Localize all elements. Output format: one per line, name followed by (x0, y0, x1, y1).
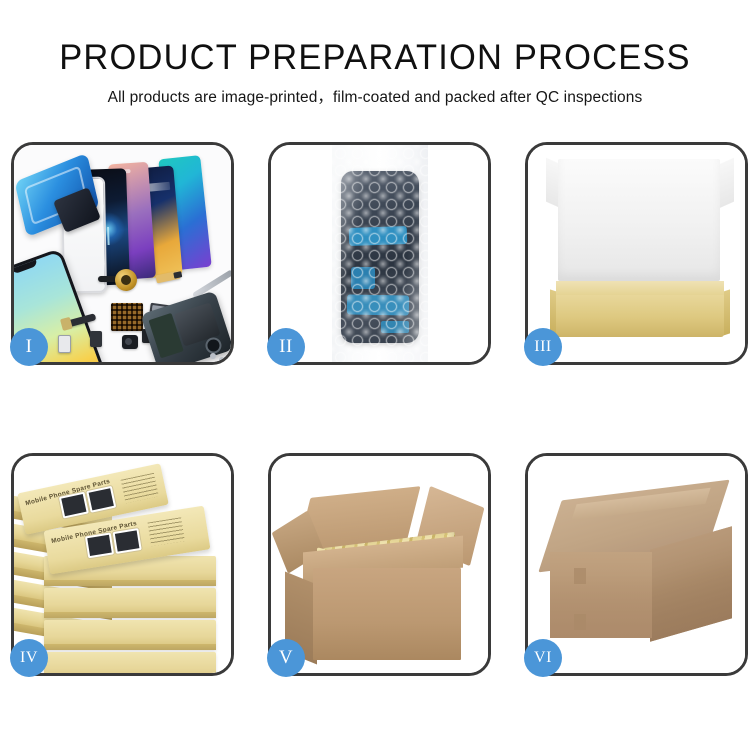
process-step-2[interactable]: II (268, 142, 491, 365)
process-step-1[interactable]: I (11, 142, 234, 365)
step-5-image (271, 456, 488, 673)
process-step-3[interactable]: III (525, 142, 748, 365)
scene-bubble-wrapped (271, 145, 488, 362)
step-numeral-badge-1: I (10, 328, 48, 366)
step-numeral-badge-4: IV (10, 639, 48, 677)
box-product-photo-1b (86, 486, 116, 513)
stacked-box-front-2 (44, 588, 216, 618)
scene-carton-sealed (528, 456, 745, 673)
box-lid-white (558, 159, 720, 281)
box-tray-kraft (556, 295, 724, 337)
carton-seam-mark-top (574, 568, 586, 584)
page-title: PRODUCT PREPARATION PROCESS (6, 40, 745, 75)
part-camera-module (122, 335, 138, 349)
sealed-carton-front (550, 552, 652, 638)
process-step-6[interactable]: VI (525, 453, 748, 676)
carton-front-face (313, 568, 461, 660)
carton-seam-mark-bottom (574, 614, 586, 630)
stacked-box-front-3 (44, 620, 216, 650)
step-numeral-badge-3: III (524, 328, 562, 366)
box-product-photo-1a (59, 492, 89, 519)
process-step-4[interactable]: Mobile Phone Spare Parts Mobile Phone Sp… (11, 453, 234, 676)
part-vibrator-coin (115, 269, 137, 291)
step-4-image: Mobile Phone Spare Parts Mobile Phone Sp… (14, 456, 231, 673)
box-spec-lines-2 (148, 517, 185, 546)
kraft-box-stack: Mobile Phone Spare Parts Mobile Phone Sp… (14, 456, 231, 673)
box-product-photo-2b (113, 528, 142, 554)
part-connector-array (111, 303, 143, 331)
scene-inner-box-packing (528, 145, 745, 362)
page-subtitle: All products are image-printed，film-coat… (0, 85, 750, 107)
process-step-grid: I II (11, 142, 739, 676)
box-product-photo-2a (85, 532, 114, 558)
part-sim-tray (58, 335, 71, 353)
part-screws (210, 353, 231, 362)
process-step-5[interactable]: V (268, 453, 491, 676)
step-6-image (528, 456, 745, 673)
part-button-module (90, 331, 102, 347)
step-numeral-badge-2: II (267, 328, 305, 366)
bubble-bag (332, 145, 428, 362)
step-1-image (14, 145, 231, 362)
step-2-image (271, 145, 488, 362)
step-numeral-badge-6: VI (524, 639, 562, 677)
product-preparation-page: PRODUCT PREPARATION PROCESS All products… (0, 0, 750, 750)
stacked-box-front-4 (44, 652, 216, 673)
step-3-image (528, 145, 745, 362)
scene-products-and-parts (14, 145, 231, 362)
step-numeral-badge-5: V (267, 639, 305, 677)
bag-sheen-highlight (332, 145, 428, 362)
box-spec-lines-1 (121, 473, 159, 504)
scene-boxes-stacked: Mobile Phone Spare Parts Mobile Phone Sp… (14, 456, 231, 673)
scene-carton-filled (271, 456, 488, 673)
